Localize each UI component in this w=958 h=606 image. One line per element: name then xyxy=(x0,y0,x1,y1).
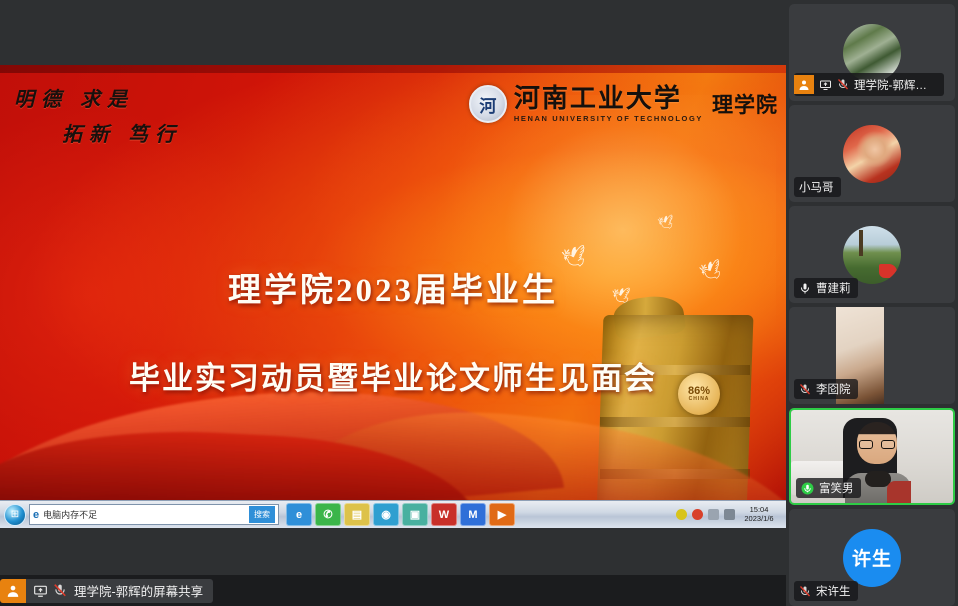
participant-icon xyxy=(794,75,814,94)
shared-screen-stage[interactable]: 明德 求是 拓新 笃行 河 河南工业大学 HENAN UNIVERSITY OF… xyxy=(0,0,786,575)
screen-share-icon xyxy=(819,79,832,91)
participant-name: 宋许生 xyxy=(816,583,851,599)
slide-top-band xyxy=(0,65,786,73)
university-name-block: 河南工业大学 HENAN UNIVERSITY OF TECHNOLOGY xyxy=(514,85,703,123)
screen-share-status-label: 理学院-郭辉的屏幕共享 xyxy=(74,581,213,600)
university-seal-icon: 河 xyxy=(469,85,507,123)
department-name: 理学院 xyxy=(712,89,778,119)
tray-icon-antivirus[interactable] xyxy=(692,509,703,520)
mic-active-icon xyxy=(801,482,814,495)
participant-name-badge: 理学院-郭辉的屏... xyxy=(794,73,944,96)
avatar: 许生 xyxy=(843,529,901,587)
participant-name: 富笑男 xyxy=(819,480,854,496)
participant-name-badge: 宋许生 xyxy=(794,581,858,601)
shared-desktop: 明德 求是 拓新 笃行 河 河南工业大学 HENAN UNIVERSITY OF… xyxy=(0,65,786,528)
slide-date: 2023年1月6日 xyxy=(0,493,786,500)
university-brand: 河 河南工业大学 HENAN UNIVERSITY OF TECHNOLOGY … xyxy=(469,85,778,123)
avatar xyxy=(843,125,901,183)
camera-person-accent xyxy=(887,481,911,503)
participant-name-badge: 曹建莉 xyxy=(794,278,858,298)
tray-icon-network[interactable] xyxy=(724,509,735,520)
mic-muted-icon xyxy=(799,383,811,396)
slide-title-line-2: 毕业实习动员暨毕业论文师生见面会 xyxy=(0,353,786,398)
taskbar-app-media[interactable]: ▣ xyxy=(402,503,428,526)
participant-name: 小马哥 xyxy=(799,179,834,195)
taskbar-app-list: e ✆ ▤ ◉ ▣ W M ▶ xyxy=(286,503,515,526)
participant-tile-songxusheng[interactable]: 许生 宋许生 xyxy=(789,509,955,606)
zoom-meeting-window: 明德 求是 拓新 笃行 河 河南工业大学 HENAN UNIVERSITY OF… xyxy=(0,0,958,606)
avatar xyxy=(843,226,901,284)
participant-tile-liyuanyuan[interactable]: 李囵院 xyxy=(789,307,955,404)
screen-share-status-bar: 理学院-郭辉的屏幕共享 xyxy=(0,575,786,606)
participant-name: 理学院-郭辉的屏... xyxy=(854,77,937,93)
mic-unmuted-icon xyxy=(799,282,811,295)
participant-name-badge: 小马哥 xyxy=(794,177,841,197)
taskbar-app-wechat[interactable]: ✆ xyxy=(315,503,341,526)
screen-share-status-chip[interactable]: 理学院-郭辉的屏幕共享 xyxy=(0,579,213,603)
participant-name: 李囵院 xyxy=(816,381,851,397)
windows-taskbar[interactable]: ⊞ e 电脑内存不足 搜索 e ✆ ▤ ◉ ▣ W M ▶ xyxy=(0,500,786,528)
presentation-slide: 明德 求是 拓新 笃行 河 河南工业大学 HENAN UNIVERSITY OF… xyxy=(0,65,786,500)
slide-title-line-1: 理学院2023届毕业生 xyxy=(0,263,786,311)
screen-share-chip-icons xyxy=(26,583,74,598)
university-motto: 明德 求是 拓新 笃行 xyxy=(14,83,234,147)
motto-line-2: 拓新 笃行 xyxy=(62,118,234,147)
taskbar-app-qq[interactable]: ◉ xyxy=(373,503,399,526)
participant-name-badge: 李囵院 xyxy=(794,379,858,399)
taskbar-app-wps[interactable]: W xyxy=(431,503,457,526)
taskbar-app-notes[interactable]: ▤ xyxy=(344,503,370,526)
tray-icon-battery[interactable] xyxy=(708,509,719,520)
taskbar-search-box[interactable]: e 电脑内存不足 搜索 xyxy=(29,504,279,525)
pillar-band xyxy=(600,417,750,427)
taskbar-app-browser[interactable]: M xyxy=(460,503,486,526)
taskbar-app-ppt[interactable]: ▶ xyxy=(489,503,515,526)
participant-name-badge: 富笑男 xyxy=(796,478,861,498)
participant-filmstrip[interactable]: 理学院-郭辉的屏... 小马哥 xyxy=(786,0,958,606)
participant-tile-caojianli[interactable]: 曹建莉 xyxy=(789,206,955,303)
mic-muted-icon xyxy=(799,585,811,598)
motto-line-1: 明德 求是 xyxy=(14,83,234,112)
taskbar-search-value: 电脑内存不足 xyxy=(43,508,245,521)
mic-muted-icon xyxy=(53,583,67,598)
tray-icon-shield[interactable] xyxy=(676,509,687,520)
participant-name: 曹建莉 xyxy=(816,280,851,296)
screen-share-icon xyxy=(33,584,48,598)
taskbar-app-edge[interactable]: e xyxy=(286,503,312,526)
taskbar-search-go-button[interactable]: 搜索 xyxy=(249,506,275,523)
clock-date: 2023/1/6 xyxy=(744,514,773,523)
taskbar-clock[interactable]: 15:04 2023/1/6 xyxy=(740,506,778,523)
start-button-icon[interactable]: ⊞ xyxy=(4,504,26,526)
participant-tile-xiaomage[interactable]: 小马哥 xyxy=(789,105,955,202)
dove-icon: 🕊 xyxy=(657,213,676,232)
internet-explorer-icon: e xyxy=(33,509,39,521)
participant-icon xyxy=(0,579,26,603)
glasses-icon xyxy=(859,440,895,449)
participant-tile-fuxiaonan[interactable]: 富笑男 xyxy=(789,408,955,505)
screen-share-region[interactable]: 明德 求是 拓新 笃行 河 河南工业大学 HENAN UNIVERSITY OF… xyxy=(0,0,786,606)
system-tray[interactable]: 15:04 2023/1/6 xyxy=(676,506,782,523)
university-name-cn: 河南工业大学 xyxy=(514,85,703,112)
university-name-en: HENAN UNIVERSITY OF TECHNOLOGY xyxy=(514,114,703,123)
mic-muted-icon xyxy=(837,78,849,91)
participant-tile-guohui[interactable]: 理学院-郭辉的屏... xyxy=(789,4,955,101)
